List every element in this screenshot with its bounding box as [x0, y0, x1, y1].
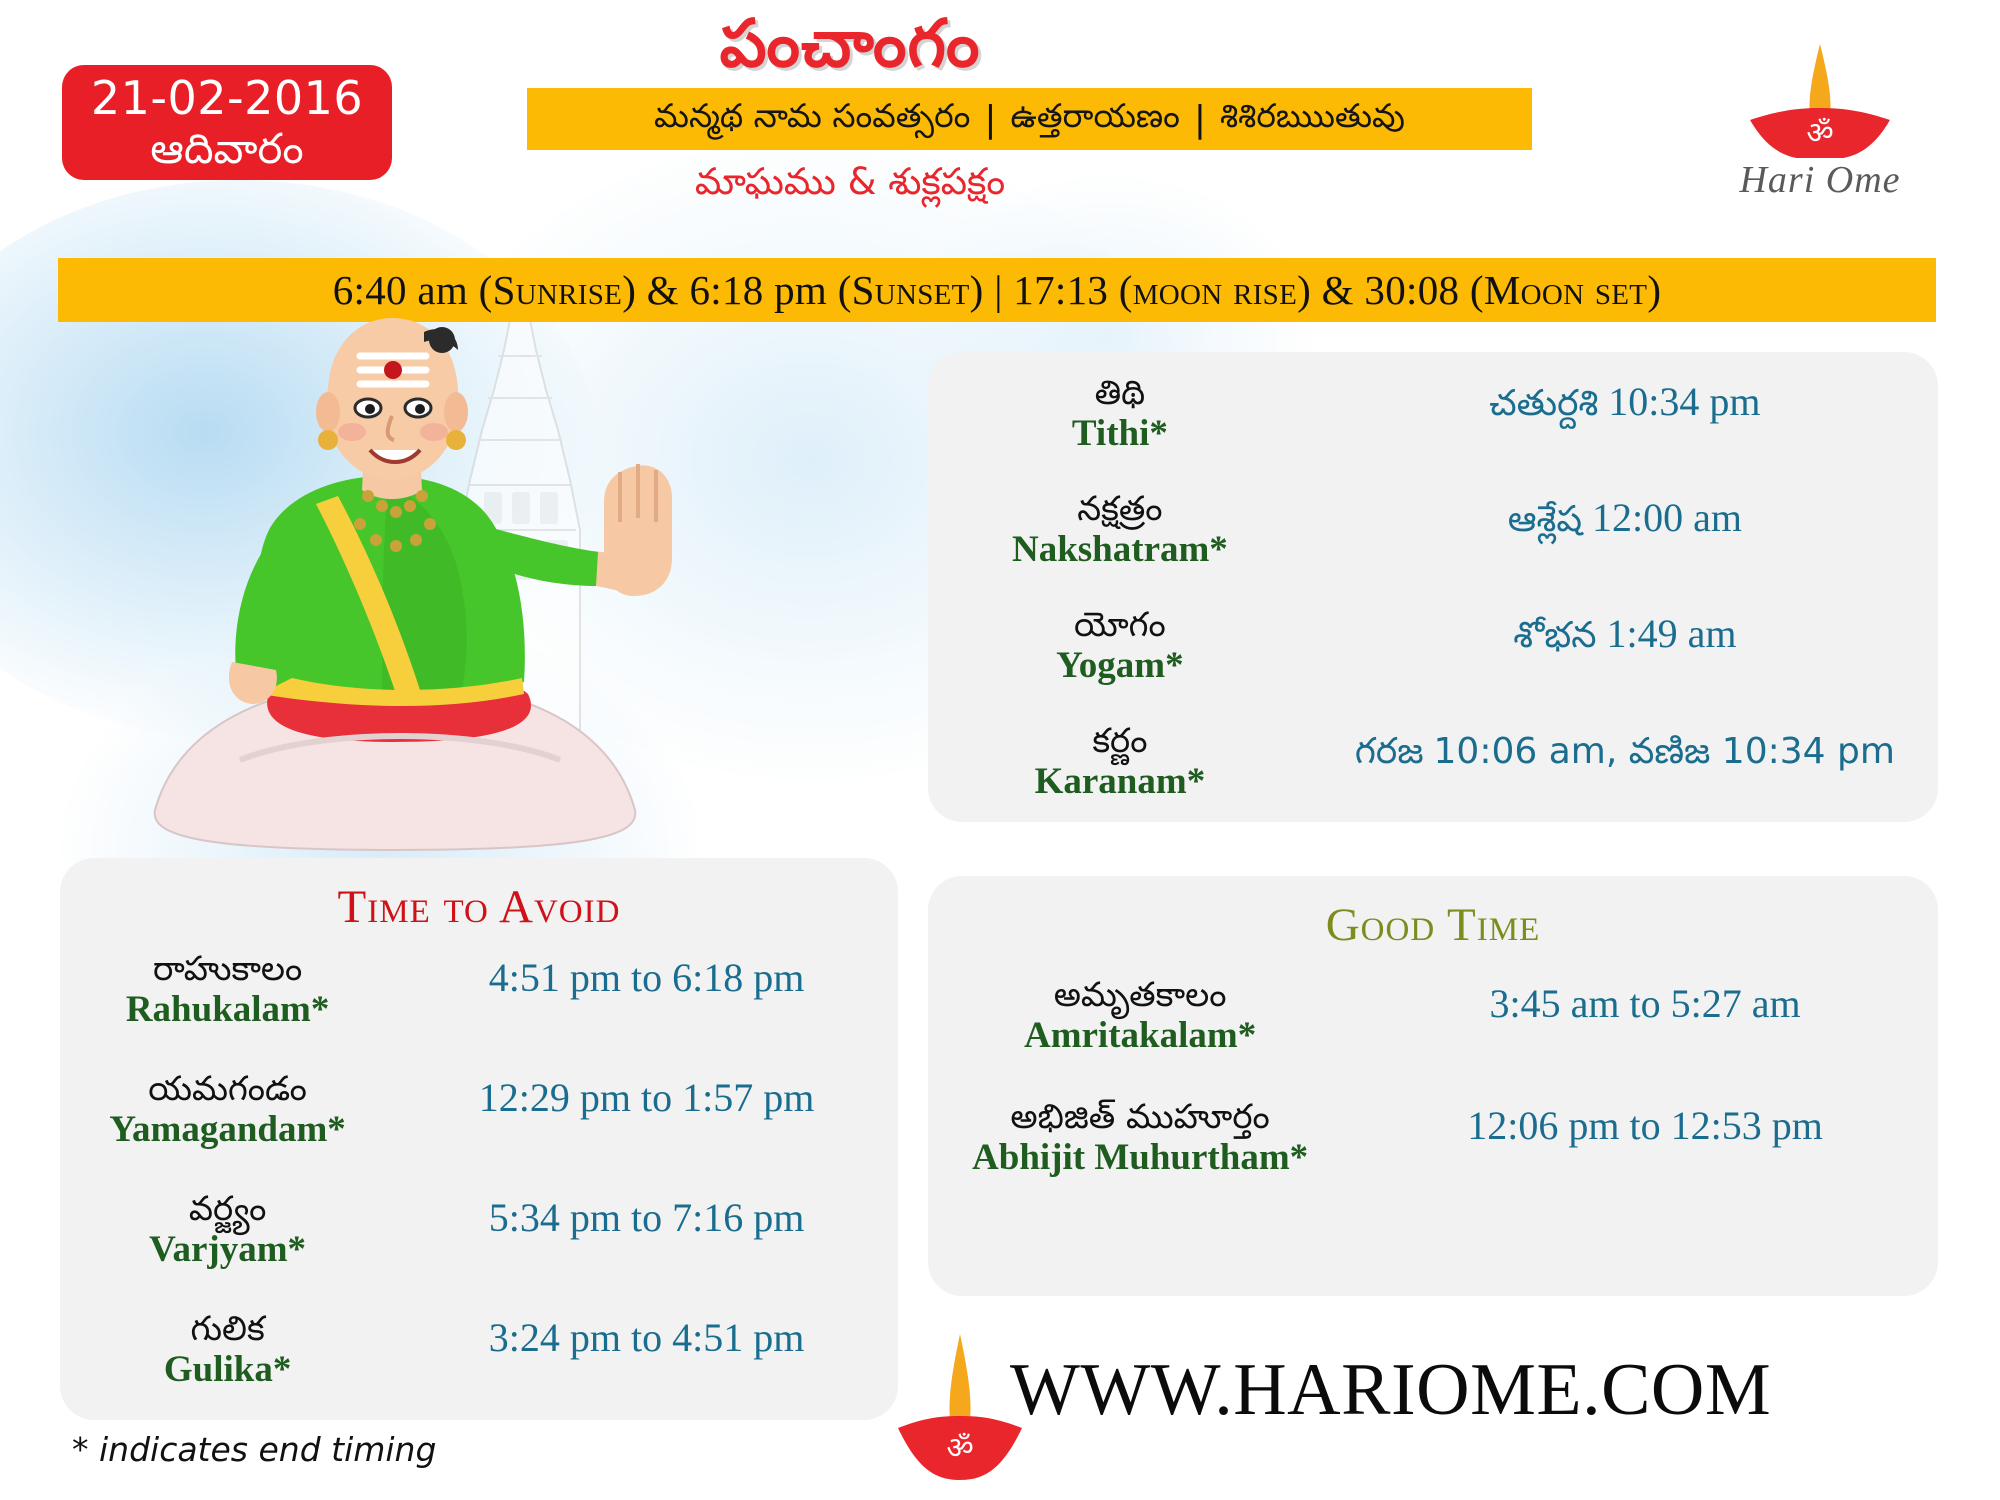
moonset-label: (Moon set) [1470, 266, 1661, 314]
date-value: 21-02-2016 [91, 73, 363, 125]
nakshatram-row: నక్షత్రం Nakshatram* ఆశ్లేష 12:00 am [928, 490, 1938, 571]
nakshatram-label-english: Nakshatram* [928, 529, 1312, 571]
hari-ome-logo: ॐ Hari Ome [1660, 38, 1980, 213]
rahukalam-label: రాహుకాలం Rahukalam* [60, 950, 395, 1031]
tithi-value: చతుర్దశి 10:34 pm [1312, 374, 1938, 433]
varjyam-value: 5:34 pm to 7:16 pm [395, 1190, 898, 1241]
yogam-value: శోభన 1:49 am [1312, 606, 1938, 665]
tithi-label-telugu: తిథి [928, 374, 1312, 413]
karanam-label-telugu: కర్ణం [928, 722, 1312, 761]
amritakalam-row: అమృతకాలం Amritakalam* 3:45 am to 5:27 am [928, 976, 1938, 1057]
time-to-avoid-panel: Time to Avoid రాహుకాలం Rahukalam* 4:51 p… [60, 858, 898, 1420]
nakshatram-value-name: ఆశ్లేష [1508, 499, 1582, 540]
panchangam-poster: 21-02-2016 ఆదివారం పంచాంగం మన్మథ నామ సంవ… [0, 0, 2000, 1500]
karanam-label-english: Karanam* [928, 761, 1312, 803]
priest-illustration [120, 290, 680, 890]
nakshatram-label-telugu: నక్షత్రం [928, 490, 1312, 529]
samvatsaram-label: మన్మథ నామ సంవత్సరం [640, 96, 984, 143]
tithi-value-name: చతుర్దశి [1489, 383, 1598, 424]
nakshatram-label: నక్షత్రం Nakshatram* [928, 490, 1312, 571]
yamagandam-label-english: Yamagandam* [60, 1109, 395, 1151]
diya-lamp-icon: ॐ [1720, 38, 1920, 158]
yogam-label: యోగం Yogam* [928, 606, 1312, 687]
yogam-row: యోగం Yogam* శోభన 1:49 am [928, 606, 1938, 687]
yamagandam-row: యమగండం Yamagandam* 12:29 pm to 1:57 pm [60, 1070, 898, 1151]
nakshatram-value: ఆశ్లేష 12:00 am [1312, 490, 1938, 549]
varjyam-label: వర్జ్యం Varjyam* [60, 1190, 395, 1271]
yamagandam-label: యమగండం Yamagandam* [60, 1070, 395, 1151]
good-time-panel: Good Time అమృతకాలం Amritakalam* 3:45 am … [928, 876, 1938, 1296]
karanam-value: గరజ 10:06 am, వణిజ 10:34 pm [1312, 722, 1938, 781]
date-badge: 21-02-2016 ఆదివారం [62, 65, 392, 180]
rutuvu-label: శిశిరఋుతువు [1206, 96, 1419, 143]
varjyam-row: వర్జ్యం Varjyam* 5:34 pm to 7:16 pm [60, 1190, 898, 1271]
varjyam-label-english: Varjyam* [60, 1229, 395, 1271]
weekday-value: ఆదివారం [150, 125, 303, 172]
amritakalam-label: అమృతకాలం Amritakalam* [928, 976, 1352, 1057]
yamagandam-label-telugu: యమగండం [60, 1070, 395, 1109]
ayanam-label: ఉత్తరాయణం [997, 96, 1194, 143]
gulika-label-telugu: గులిక [60, 1310, 395, 1349]
website-url[interactable]: WWW.HARIOME.COM [1010, 1348, 1771, 1433]
sunset-time: 6:18 pm [689, 266, 827, 314]
rahukalam-row: రాహుకాలం Rahukalam* 4:51 pm to 6:18 pm [60, 950, 898, 1031]
rahukalam-label-telugu: రాహుకాలం [60, 950, 395, 989]
moonset-time: 30:08 [1364, 266, 1459, 314]
varjyam-label-telugu: వర్జ్యం [60, 1190, 395, 1229]
page-title: పంచాంగం [500, 5, 1200, 98]
separator-icon: | [984, 99, 996, 140]
tithi-row: తిథి Tithi* చతుర్దశి 10:34 pm [928, 374, 1938, 455]
footnote-text: * indicates end timing [72, 1430, 436, 1469]
amritakalam-value: 3:45 am to 5:27 am [1352, 976, 1938, 1027]
rahukalam-value: 4:51 pm to 6:18 pm [395, 950, 898, 1001]
svg-text:ॐ: ॐ [1806, 116, 1833, 151]
gulika-label: గులిక Gulika* [60, 1310, 395, 1391]
tithi-label-english: Tithi* [928, 413, 1312, 455]
diya-lamp-icon: ॐ [890, 1330, 1030, 1495]
tithi-value-time: 10:34 pm [1608, 379, 1760, 424]
gulika-row: గులిక Gulika* 3:24 pm to 4:51 pm [60, 1310, 898, 1391]
separator-icon: | [1194, 99, 1206, 140]
yogam-label-english: Yogam* [928, 645, 1312, 687]
ampersand-2: & [1322, 266, 1354, 314]
amritakalam-label-telugu: అమృతకాలం [928, 976, 1352, 1015]
gulika-value: 3:24 pm to 4:51 pm [395, 1310, 898, 1361]
abhijit-muhurtham-label: అభిజిత్ ముహూర్తం Abhijit Muhurtham* [928, 1098, 1352, 1179]
moonrise-time: 17:13 [1013, 266, 1108, 314]
karanam-label: కర్ణం Karanam* [928, 722, 1312, 803]
logo-brand-text: Hari Ome [1660, 158, 1980, 202]
tithi-label: తిథి Tithi* [928, 374, 1312, 455]
nakshatram-value-time: 12:00 am [1592, 495, 1742, 540]
karanam-row: కర్ణం Karanam* గరజ 10:06 am, వణిజ 10:34 … [928, 722, 1938, 803]
amritakalam-label-english: Amritakalam* [928, 1015, 1352, 1057]
yogam-label-telugu: యోగం [928, 606, 1312, 645]
abhijit-muhurtham-row: అభిజిత్ ముహూర్తం Abhijit Muhurtham* 12:0… [928, 1098, 1938, 1179]
karanam-value-time: 10:06 am, వణిజ 10:34 pm [1434, 731, 1895, 772]
yogam-value-time: 1:49 am [1607, 611, 1737, 656]
abhijit-muhurtham-label-english: Abhijit Muhurtham* [928, 1137, 1352, 1179]
masam-paksham-label: మాఘము & శుక్లపక్షం [500, 160, 1200, 212]
yamagandam-value: 12:29 pm to 1:57 pm [395, 1070, 898, 1121]
abhijit-muhurtham-value: 12:06 pm to 12:53 pm [1352, 1098, 1938, 1149]
abhijit-muhurtham-label-telugu: అభిజిత్ ముహూర్తం [928, 1098, 1352, 1137]
moonrise-label: (moon rise) [1119, 266, 1311, 314]
gulika-label-english: Gulika* [60, 1349, 395, 1391]
yogam-value-name: శోభన [1513, 615, 1596, 656]
sunset-label: (Sunset) [838, 266, 984, 314]
karanam-value-name: గరజ [1355, 731, 1424, 772]
tithi-panel: తిథి Tithi* చతుర్దశి 10:34 pm నక్షత్రం N… [928, 352, 1938, 822]
rahukalam-label-english: Rahukalam* [60, 989, 395, 1031]
svg-text:ॐ: ॐ [946, 1431, 973, 1466]
bar-separator: | [994, 266, 1003, 314]
samvatsaram-bar: మన్మథ నామ సంవత్సరం | ఉత్తరాయణం | శిశిరఋు… [527, 88, 1532, 150]
